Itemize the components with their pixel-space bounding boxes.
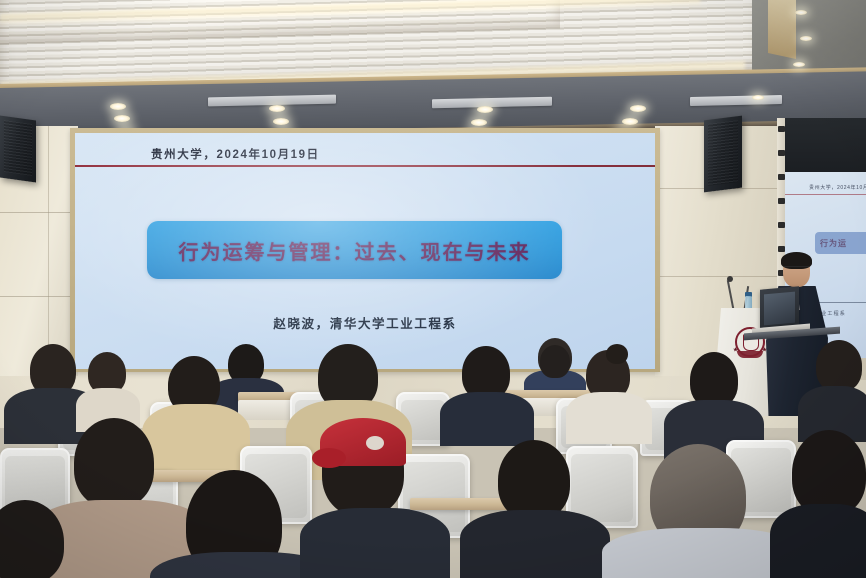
- audience-shoulders: [440, 392, 534, 446]
- secondary-screen-divider: [815, 302, 866, 303]
- downlight-8: [471, 119, 487, 126]
- left-wall-speaker: [0, 115, 36, 182]
- audience-head: [498, 440, 570, 520]
- audience-head: [816, 340, 862, 392]
- audience-head: [74, 418, 154, 508]
- presenter-glasses-icon: [784, 266, 809, 272]
- secondary-screen-casing: [785, 118, 866, 174]
- secondary-screen-rule: [785, 194, 866, 195]
- lecture-hall-scene: 贵州大学，2024年10月19日 行为运筹与管理：过去、现在与未来 赵晓波，清华…: [0, 0, 866, 578]
- ceiling-highlight-strip: [768, 0, 796, 59]
- audience-shoulders: [460, 510, 610, 578]
- red-cap-brim: [312, 448, 346, 468]
- microphone-head: [727, 276, 733, 282]
- secondary-screen-header: 贵州大学，2024年10月19日: [809, 184, 866, 191]
- downlight-5: [273, 118, 289, 125]
- downlight-14: [800, 36, 812, 41]
- audience-shoulders: [770, 504, 866, 578]
- downlight-16: [752, 95, 764, 100]
- downlight-15: [793, 62, 805, 67]
- downlight-13: [795, 10, 807, 15]
- downlight-10: [630, 105, 646, 112]
- slide-header-text: 贵州大学，2024年10月19日: [151, 146, 320, 162]
- downlight-7: [477, 106, 493, 113]
- projected-slide: 贵州大学，2024年10月19日 行为运筹与管理：过去、现在与未来 赵晓波，清华…: [75, 133, 655, 369]
- cap-button: [366, 436, 384, 450]
- secondary-screen-title-box: 行为运: [815, 232, 866, 254]
- audience-head: [540, 345, 570, 378]
- slide-title-box: 行为运筹与管理：过去、现在与未来: [147, 221, 562, 279]
- downlight-11: [622, 118, 638, 125]
- audience-shoulders: [566, 392, 652, 444]
- slide-title-text: 行为运筹与管理：过去、现在与未来: [179, 236, 531, 265]
- downlight-4: [269, 105, 285, 112]
- secondary-screen-title-text: 行为运: [820, 238, 847, 249]
- audience-hair-bun: [606, 344, 628, 364]
- downlight-1: [110, 103, 126, 110]
- downlight-2: [114, 115, 130, 122]
- audience-shoulders: [142, 404, 250, 474]
- audience-shoulders: [300, 508, 450, 578]
- right-wall-speaker: [704, 116, 742, 193]
- slide-header-rule: [75, 165, 655, 167]
- ceiling-vent-3: [690, 95, 782, 106]
- slide-subtitle-text: 赵晓波，清华大学工业工程系: [75, 313, 655, 332]
